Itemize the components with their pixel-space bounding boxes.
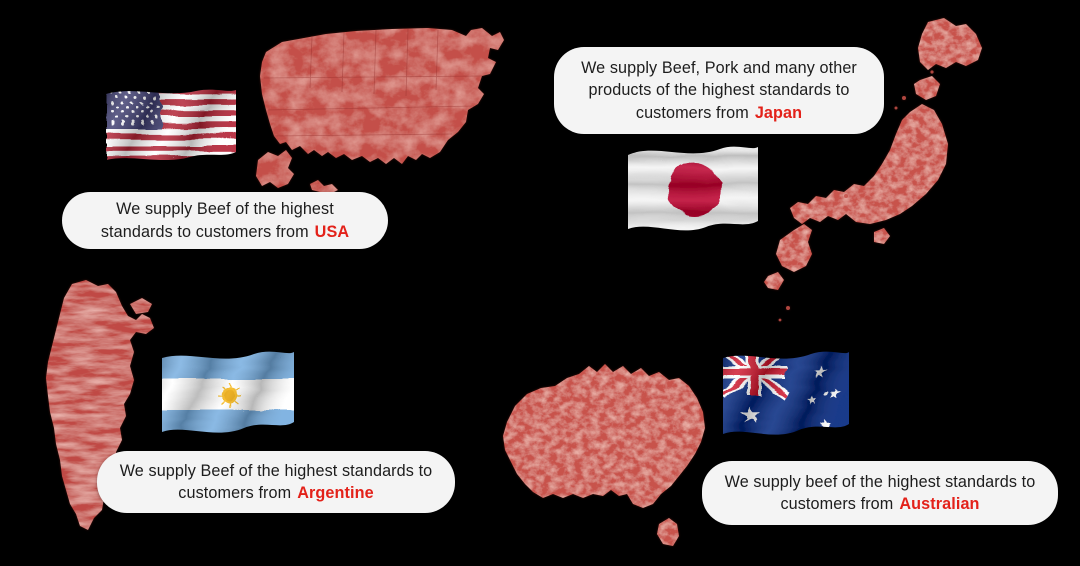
flag-argentina-icon <box>158 348 298 438</box>
card-usa[interactable]: We supply Beef of the highest standards … <box>62 192 388 249</box>
card-australian-text: We supply beef of the highest standards … <box>725 473 1036 513</box>
flag-japan-icon <box>624 141 762 235</box>
map-australia <box>483 356 733 556</box>
card-japan-country: Japan <box>749 104 802 122</box>
card-australian[interactable]: We supply beef of the highest standards … <box>702 461 1058 525</box>
poster-canvas: We supply Beef, Pork and many other prod… <box>0 0 1080 566</box>
flag-usa-icon <box>104 86 238 162</box>
card-australian-country: Australian <box>893 495 979 513</box>
card-usa-text: We supply Beef of the highest standards … <box>101 200 334 240</box>
flag-australia-icon <box>719 348 851 440</box>
card-argentine[interactable]: We supply Beef of the highest standards … <box>97 451 455 513</box>
card-argentine-country: Argentine <box>291 484 373 502</box>
card-japan[interactable]: We supply Beef, Pork and many other prod… <box>554 47 884 134</box>
card-usa-country: USA <box>309 223 349 241</box>
map-united-states <box>252 18 518 208</box>
card-japan-text: We supply Beef, Pork and many other prod… <box>581 59 857 122</box>
card-argentine-text: We supply Beef of the highest standards … <box>120 462 433 502</box>
